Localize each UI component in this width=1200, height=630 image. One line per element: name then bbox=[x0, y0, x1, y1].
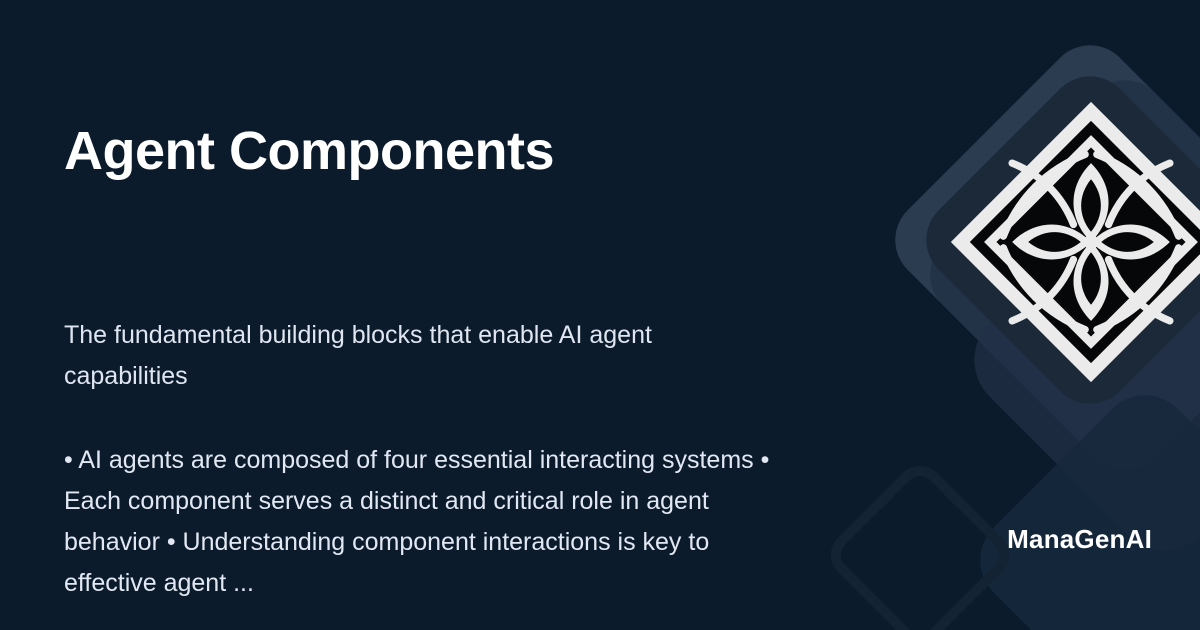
slide-text-column: Agent Components The fundamental buildin… bbox=[64, 0, 804, 630]
decorative-diamond-bottom-right bbox=[961, 376, 1200, 630]
managenai-diamond-emblem-icon bbox=[945, 96, 1200, 388]
page-title: Agent Components bbox=[64, 120, 554, 182]
brand-wordmark: ManaGenAI bbox=[900, 524, 1152, 555]
slide-subtitle: The fundamental building blocks that ena… bbox=[64, 315, 764, 397]
presentation-slide: Agent Components The fundamental buildin… bbox=[0, 0, 1200, 630]
slide-body-text: • AI agents are composed of four essenti… bbox=[64, 440, 794, 604]
